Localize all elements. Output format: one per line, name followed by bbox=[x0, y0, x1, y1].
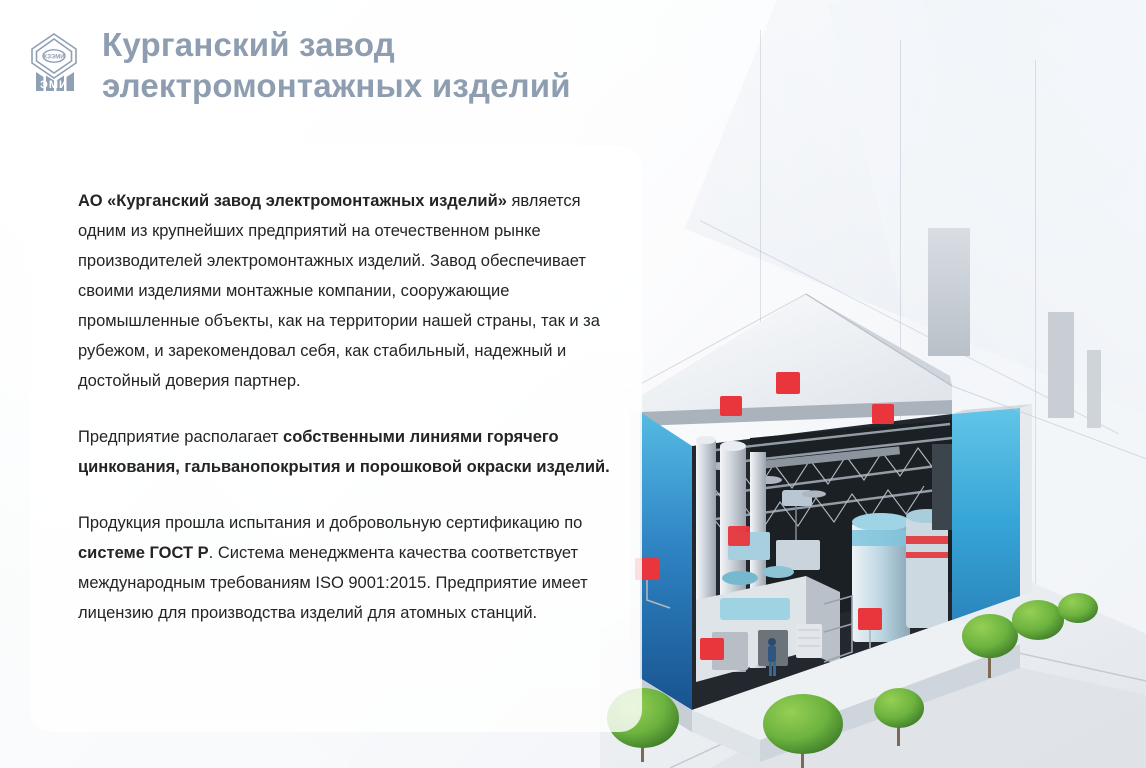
red-marker bbox=[776, 372, 800, 394]
kzemi-diamond-logo-icon: КЗЭМИ ЭМИ bbox=[28, 32, 80, 92]
production-lines-lead: Предприятие располагает bbox=[78, 428, 283, 446]
red-marker bbox=[858, 608, 882, 630]
right-wall-frame bbox=[1020, 404, 1032, 596]
red-marker bbox=[728, 526, 750, 546]
vat-basin-2 bbox=[762, 566, 794, 578]
slide-root: КЗЭМИ ЭМИ Курганский завод электромонтаж… bbox=[0, 0, 1146, 768]
certification-part1: Продукция прошла испытания и добровольну… bbox=[78, 514, 582, 532]
console-rack bbox=[796, 624, 822, 658]
tree bbox=[1058, 593, 1098, 623]
gost-r-highlight: системе ГОСТ Р bbox=[78, 544, 209, 562]
console-screen bbox=[720, 598, 790, 620]
paragraph-certification: Продукция прошла испытания и добровольну… bbox=[78, 508, 618, 628]
page-title: Курганский завод электромонтажных издели… bbox=[102, 24, 571, 107]
right-blue-wall bbox=[952, 408, 1020, 620]
page-header: КЗЭМИ ЭМИ Курганский завод электромонтаж… bbox=[28, 24, 571, 107]
vat-basin-1 bbox=[722, 571, 758, 585]
company-legal-name: АО «Курганский завод электромонтажных из… bbox=[78, 192, 507, 210]
svg-text:КЗЭМИ: КЗЭМИ bbox=[43, 54, 64, 60]
red-marker bbox=[872, 404, 894, 424]
paragraph-production-lines: Предприятие располагает собственными лин… bbox=[78, 422, 618, 482]
red-marker bbox=[700, 638, 724, 660]
smokestack-large bbox=[928, 228, 970, 356]
red-marker bbox=[720, 396, 742, 416]
smokestack-medium bbox=[1048, 312, 1074, 418]
worker-figure bbox=[768, 638, 776, 676]
cabinet-tall bbox=[932, 444, 954, 530]
isometric-factory-illustration bbox=[600, 200, 1146, 768]
company-description: АО «Курганский завод электромонтажных из… bbox=[78, 186, 618, 628]
paragraph-company-intro: АО «Курганский завод электромонтажных из… bbox=[78, 186, 618, 396]
tree bbox=[1012, 600, 1064, 640]
smokestack-small bbox=[1087, 350, 1101, 428]
company-intro-rest: является одним из крупнейших предприятий… bbox=[78, 192, 600, 390]
svg-text:ЭМИ: ЭМИ bbox=[40, 79, 68, 91]
